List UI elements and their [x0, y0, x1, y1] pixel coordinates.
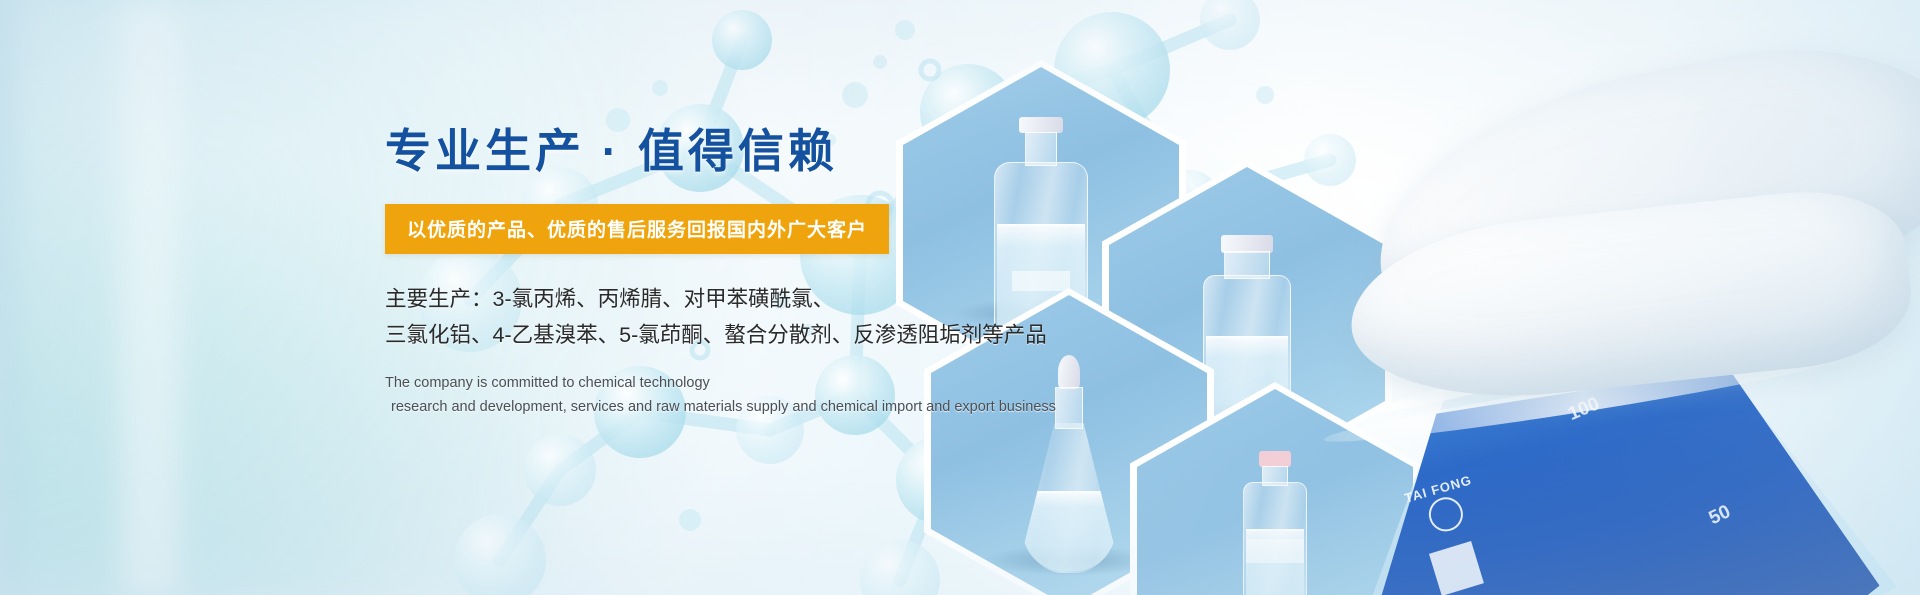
- hero-copy: 专业生产 · 值得信赖 以优质的产品、优质的售后服务回报国内外广大客户 主要生产…: [385, 128, 1165, 419]
- hero-banner: 125 100 50 TAI FONG 专业生产 · 值得信赖 以优质的产品、优…: [0, 0, 1920, 595]
- product-list: 主要生产：3-氯丙烯、丙烯腈、对甲苯磺酰氯、 三氯化铝、4-乙基溴苯、5-氯茚酮…: [385, 281, 1165, 353]
- product-line-1: 主要生产：3-氯丙烯、丙烯腈、对甲苯磺酰氯、: [385, 281, 1165, 317]
- page-title: 专业生产 · 值得信赖: [385, 128, 1165, 174]
- english-line-1: The company is committed to chemical tec…: [385, 371, 1165, 395]
- product-line-2: 三氯化铝、4-乙基溴苯、5-氯茚酮、螯合分散剂、反渗透阻垢剂等产品: [385, 317, 1165, 353]
- english-line-2: research and development, services and r…: [385, 395, 1165, 419]
- english-description: The company is committed to chemical tec…: [385, 371, 1165, 419]
- tagline-ribbon: 以优质的产品、优质的售后服务回报国内外广大客户: [385, 204, 889, 254]
